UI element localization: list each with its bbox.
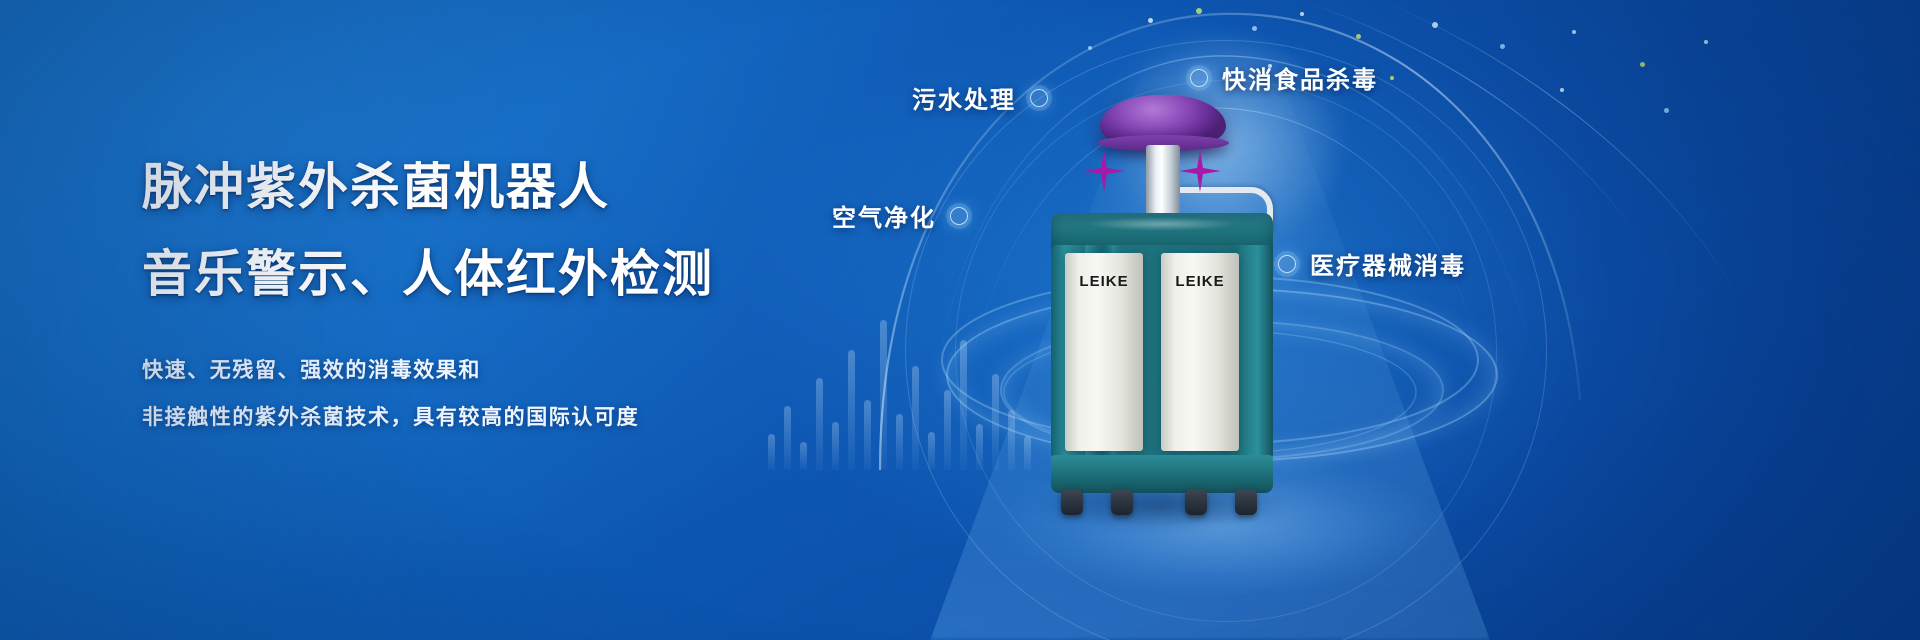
sparkle [1252, 26, 1257, 31]
uv-lamp-neck [1146, 145, 1180, 220]
sparkle [1664, 108, 1669, 113]
hero-banner: 脉冲紫外杀菌机器人 音乐警示、人体红外检测 快速、无残留、强效的消毒效果和 非接… [0, 0, 1920, 640]
sparkle-logo-icon [1083, 150, 1125, 192]
node-dot-icon [1190, 69, 1208, 87]
uv-robot-device: LEIKE LEIKE [1035, 95, 1285, 495]
callout-label: 空气净化 [832, 198, 936, 233]
callout-label: 快消食品杀毒 [1222, 60, 1378, 95]
sparkle [1196, 8, 1202, 14]
sparkle [1500, 44, 1505, 49]
sparkle [1356, 34, 1361, 39]
callout-medical-disinfection[interactable]: 医疗器械消毒 [1278, 246, 1466, 281]
device-base [1051, 455, 1273, 493]
device-wheel [1185, 489, 1207, 515]
device-brand-right: LEIKE [1161, 273, 1239, 290]
sparkle [1432, 22, 1438, 28]
callout-label: 医疗器械消毒 [1310, 246, 1466, 281]
hero-body-line-2: 非接触性的紫外杀菌技术，具有较高的国际认可度 [142, 395, 902, 438]
page-title-line-1: 脉冲紫外杀菌机器人 [142, 150, 902, 223]
sparkle [1704, 40, 1708, 44]
callout-food-sterilization[interactable]: 快消食品杀毒 [1190, 60, 1378, 95]
callout-air-purification[interactable]: 空气净化 [832, 198, 968, 233]
sparkle [1640, 62, 1645, 67]
page-title-line-2: 音乐警示、人体红外检测 [142, 237, 902, 310]
callout-label: 污水处理 [912, 80, 1016, 115]
sparkle [1560, 88, 1564, 92]
sparkle [1148, 18, 1153, 23]
sparkle [1300, 12, 1304, 16]
device-brand-left: LEIKE [1065, 273, 1143, 290]
sparkle [1088, 46, 1092, 50]
hero-copy: 脉冲紫外杀菌机器人 音乐警示、人体红外检测 快速、无残留、强效的消毒效果和 非接… [142, 150, 902, 438]
hero-body-line-1: 快速、无残留、强效的消毒效果和 [142, 348, 902, 391]
sparkle-logo-icon [1179, 150, 1221, 192]
callout-waste-treatment[interactable]: 污水处理 [912, 80, 1048, 115]
device-wheel [1111, 489, 1133, 515]
node-dot-icon [950, 207, 968, 225]
sparkle [1390, 76, 1394, 80]
device-body-right-edge [1239, 245, 1273, 460]
sparkle [1572, 30, 1576, 34]
device-wheel [1061, 489, 1083, 515]
device-wheel [1235, 489, 1257, 515]
